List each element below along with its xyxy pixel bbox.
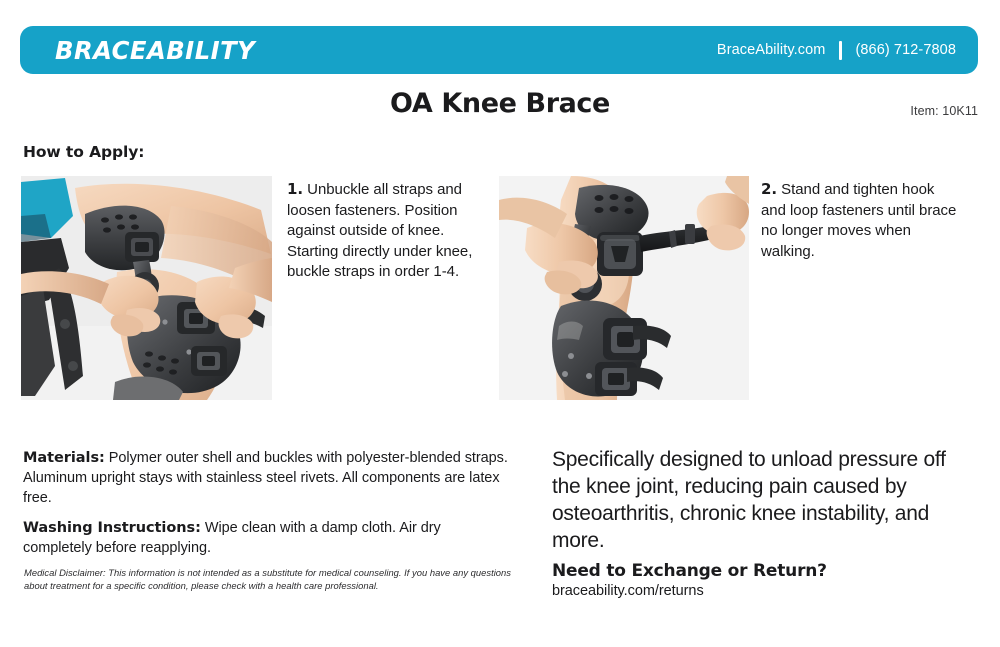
item-number: Item: 10K11	[910, 104, 978, 118]
returns-url-link[interactable]: braceability.com/returns	[552, 583, 704, 599]
step-2-illustration	[499, 176, 749, 400]
step-2-text: 2. Stand and tighten hook and loop faste…	[761, 179, 961, 262]
page-title: OA Knee Brace	[0, 88, 1000, 119]
medical-disclaimer: Medical Disclaimer: This information is …	[24, 567, 514, 592]
step-1-text: 1. Unbuckle all straps and loosen fasten…	[287, 179, 479, 283]
step-2-number: 2.	[761, 180, 777, 198]
step-1-photo	[21, 176, 272, 400]
returns-heading: Need to Exchange or Return?	[552, 561, 827, 581]
materials-section: Materials: Polymer outer shell and buckl…	[23, 448, 518, 508]
header-website-link[interactable]: BraceAbility.com	[717, 42, 826, 58]
step-2-photo	[499, 176, 749, 400]
braceability-logo: BRACEABILITY	[55, 36, 255, 65]
header-phone-number[interactable]: (866) 712-7808	[855, 42, 956, 58]
header-contact-group: BraceAbility.com (866) 712-7808	[717, 41, 956, 60]
materials-label: Materials:	[23, 450, 105, 466]
how-to-apply-heading: How to Apply:	[23, 143, 144, 161]
step-1-body: Unbuckle all straps and loosen fasteners…	[287, 181, 472, 280]
step-1-number: 1.	[287, 180, 303, 198]
washing-section: Washing Instructions: Wipe clean with a …	[23, 518, 493, 558]
brand-header-bar: BRACEABILITY BraceAbility.com (866) 712-…	[20, 26, 978, 74]
step-2-body: Stand and tighten hook and loop fastener…	[761, 181, 956, 260]
washing-label: Washing Instructions:	[23, 520, 201, 536]
step-1-illustration	[21, 176, 272, 400]
title-row: OA Knee Brace Item: 10K11	[0, 88, 1000, 132]
product-description: Specifically designed to unload pressure…	[552, 446, 972, 554]
header-divider	[839, 41, 842, 60]
